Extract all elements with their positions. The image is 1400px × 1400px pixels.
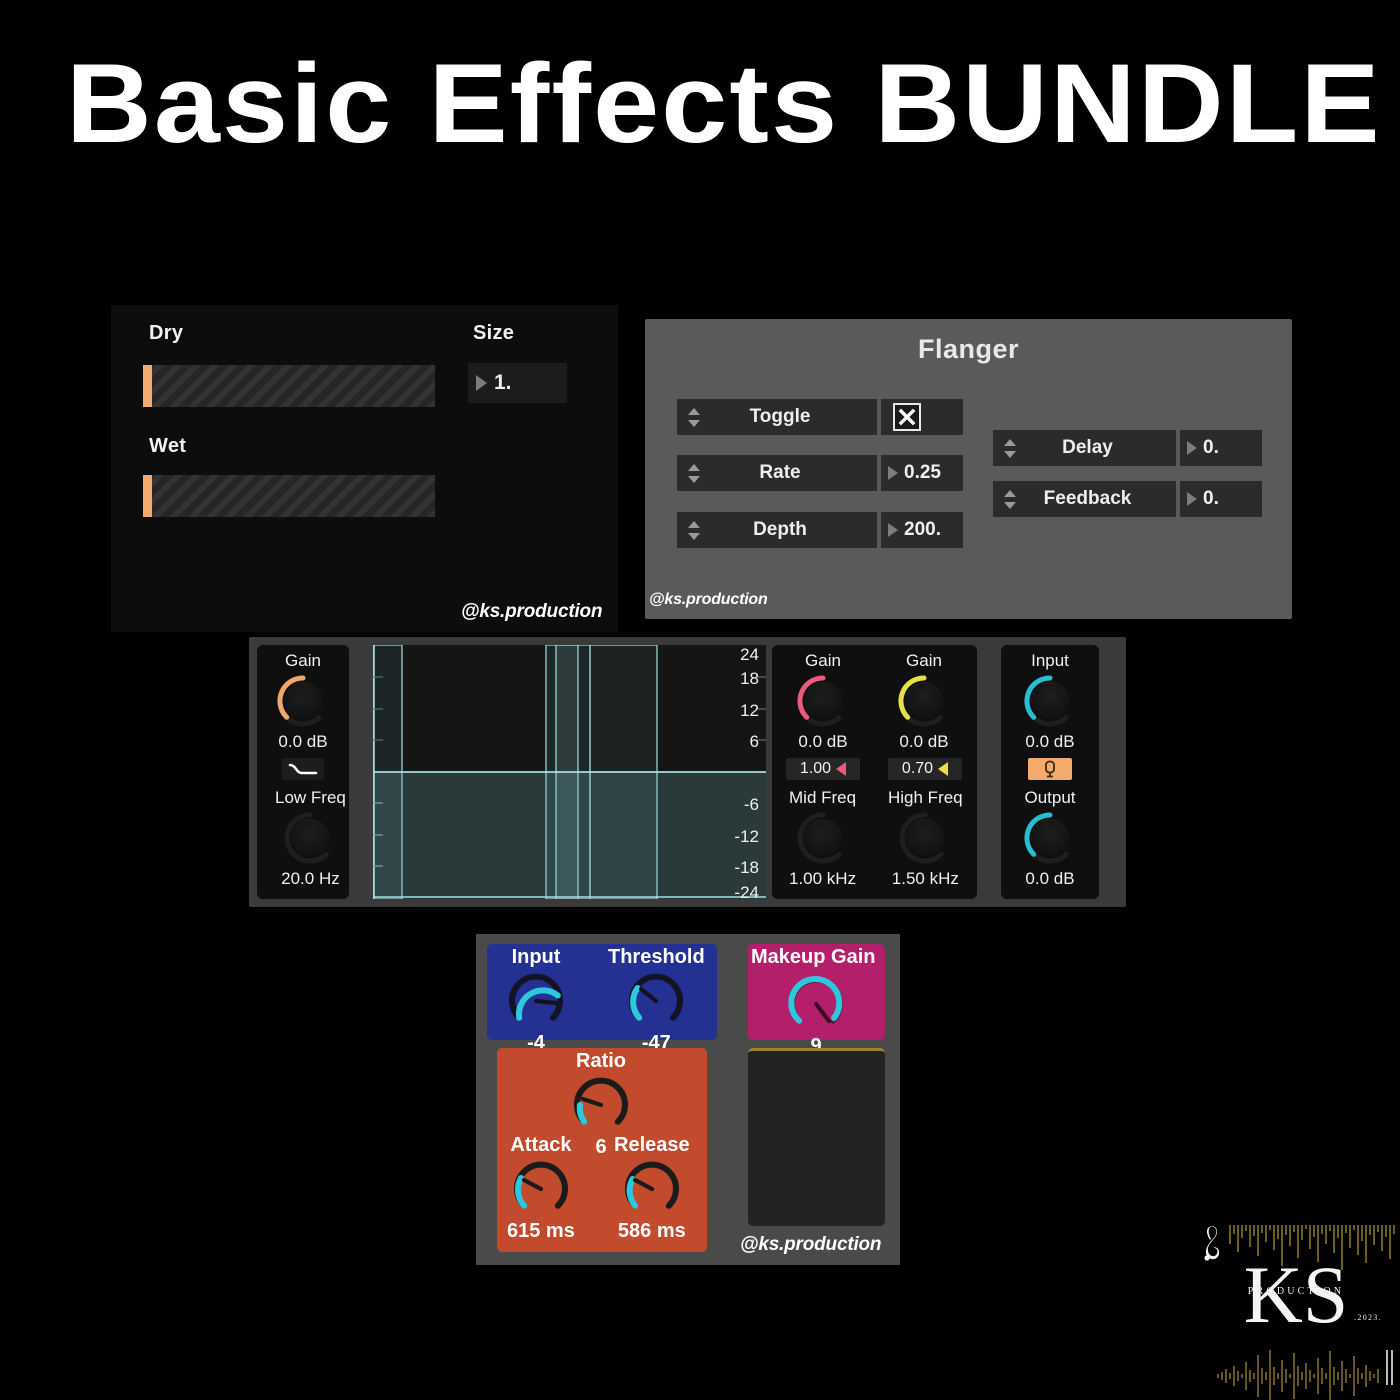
equalizer-panel: Gain 0.0 dB Low Freq <box>249 637 1126 907</box>
spinner-up-icon[interactable] <box>688 521 700 528</box>
flanger-row-depth[interactable]: Depth <box>677 512 877 548</box>
eq-tick-12: 12 <box>725 701 759 721</box>
high-q-value: 0.70 <box>902 760 933 778</box>
toggle-name-box[interactable]: Toggle <box>677 399 877 435</box>
compressor-input-section: Input -4 Threshold -47 <box>487 944 717 1040</box>
dry-slider[interactable] <box>143 365 435 407</box>
watermark-compressor: @ks.production <box>740 1234 881 1256</box>
comp-attack-label: Attack <box>510 1134 571 1157</box>
delay-spinner[interactable] <box>999 439 1021 458</box>
mid-gain-knob-group[interactable]: Gain 0.0 dB <box>795 651 851 752</box>
eq-tick-6: 6 <box>725 732 759 752</box>
gain-reduction-meter <box>748 1048 885 1226</box>
flanger-title: Flanger <box>645 334 1292 365</box>
size-value: 1. <box>494 371 512 395</box>
compressor-makeup-section: Makeup Gain 9 <box>748 944 885 1040</box>
wet-slider-handle[interactable] <box>143 475 152 517</box>
spinner-up-icon[interactable] <box>688 408 700 415</box>
low-freq-knob-group[interactable]: Low Freq 20.0 Hz <box>275 788 346 889</box>
io-input-knob-group[interactable]: Input 0.0 dB <box>1022 651 1078 752</box>
size-label: Size <box>473 322 514 345</box>
eq-tick-n18: -18 <box>725 858 759 878</box>
rate-value: 0.25 <box>904 462 941 484</box>
comp-threshold-knob[interactable] <box>625 970 687 1032</box>
io-input-label: Input <box>1031 651 1069 671</box>
high-q-field[interactable]: 0.70 <box>888 758 962 780</box>
spinner-down-icon[interactable] <box>1004 451 1016 458</box>
low-gain-label: Gain <box>285 651 321 671</box>
comp-input-knob-group[interactable]: Input -4 <box>505 946 567 1055</box>
mid-gain-label: Gain <box>805 651 841 671</box>
rate-label: Rate <box>705 462 877 484</box>
comp-makeup-knob-group[interactable]: Makeup Gain 9 <box>785 946 847 1058</box>
triangle-right-icon <box>1187 441 1197 455</box>
mid-gain-value: 0.0 dB <box>798 732 847 752</box>
io-output-knob-body <box>1031 819 1069 857</box>
watermark-reverb: @ks.production <box>461 601 602 623</box>
low-freq-value: 20.0 Hz <box>281 869 340 889</box>
tube-toggle-button[interactable] <box>1028 758 1072 780</box>
eq-io-card: Input 0.0 dB Output <box>1001 645 1099 899</box>
wet-slider[interactable] <box>143 475 435 517</box>
toggle-spinner[interactable] <box>683 408 705 427</box>
feedback-name-box[interactable]: Feedback <box>993 481 1176 517</box>
high-freq-label: High Freq <box>888 788 963 808</box>
triangle-right-icon <box>476 375 487 391</box>
eq-tick-n6: -6 <box>725 795 759 815</box>
spinner-up-icon[interactable] <box>1004 439 1016 446</box>
spinner-down-icon[interactable] <box>688 533 700 540</box>
comp-input-label: Input <box>512 946 561 969</box>
mid-freq-knob[interactable] <box>795 810 851 866</box>
high-gain-knob-group[interactable]: Gain 0.0 dB <box>896 651 952 752</box>
watermark-flanger: @ks.production <box>649 591 768 609</box>
rate-value-field[interactable]: 0.25 <box>881 455 963 491</box>
page-title: Basic Effects BUNDLE <box>66 46 1400 162</box>
rate-name-box[interactable]: Rate <box>677 455 877 491</box>
spinner-down-icon[interactable] <box>688 420 700 427</box>
comp-threshold-label: Threshold <box>608 946 705 969</box>
high-freq-value: 1.50 kHz <box>892 869 959 889</box>
reverb-panel: Dry Wet Size 1. @ks.production <box>111 305 618 632</box>
eq-tick-24: 24 <box>725 645 759 665</box>
io-input-knob-body <box>1031 682 1069 720</box>
toggle-checkbox-box[interactable] <box>881 399 963 435</box>
eq-tick-n24: -24 <box>725 883 759 899</box>
compressor-dynamics-section: Ratio 6 Attack 615 ms Re <box>497 1048 707 1252</box>
high-gain-label: Gain <box>906 651 942 671</box>
mid-freq-knob-body <box>804 819 842 857</box>
mid-band-arrow-icon <box>836 762 846 776</box>
mid-q-value: 1.00 <box>800 760 831 778</box>
depth-value: 200. <box>904 519 941 541</box>
dry-label: Dry <box>149 322 183 345</box>
delay-name-box[interactable]: Delay <box>993 430 1176 466</box>
spinner-down-icon[interactable] <box>1004 502 1016 509</box>
logo-artwork: KS PRODUCTION .2023. <box>1196 1222 1400 1400</box>
eq-response-graph[interactable]: 24 18 12 6 -6 -12 -18 -24 <box>373 645 766 899</box>
feedback-label: Feedback <box>1021 488 1176 510</box>
comp-ratio-knob[interactable] <box>570 1074 632 1136</box>
high-gain-knob-body <box>905 682 943 720</box>
io-output-knob[interactable] <box>1022 810 1078 866</box>
triangle-right-icon <box>1187 492 1197 506</box>
dry-slider-handle[interactable] <box>143 365 152 407</box>
wet-label: Wet <box>149 435 186 458</box>
compressor-panel: Input -4 Threshold -47 <box>476 934 900 1265</box>
comp-makeup-label: Makeup Gain <box>751 946 875 969</box>
eq-curve <box>373 645 766 899</box>
triangle-right-icon <box>888 523 898 537</box>
depth-name-box[interactable]: Depth <box>677 512 877 548</box>
mid-gain-knob[interactable] <box>795 673 851 729</box>
spinner-down-icon[interactable] <box>688 476 700 483</box>
triangle-right-icon <box>888 466 898 480</box>
high-freq-knob[interactable] <box>897 810 953 866</box>
comp-release-knob[interactable] <box>621 1158 683 1220</box>
io-output-value: 0.0 dB <box>1025 869 1074 889</box>
spinner-up-icon[interactable] <box>1004 490 1016 497</box>
check-x-icon <box>898 408 916 426</box>
tube-icon <box>1043 760 1057 778</box>
low-shelf-filter-button[interactable] <box>282 758 324 780</box>
toggle-checkbox[interactable] <box>893 403 921 431</box>
flanger-row-rate[interactable]: Rate <box>677 455 877 491</box>
flanger-row-feedback[interactable]: Feedback <box>993 481 1176 517</box>
delay-label: Delay <box>1021 437 1176 459</box>
low-shelf-icon <box>288 762 318 777</box>
mid-freq-value: 1.00 kHz <box>789 869 856 889</box>
size-number-field[interactable]: 1. <box>468 363 567 403</box>
high-freq-knob-group[interactable]: High Freq 1.50 kHz <box>888 788 963 889</box>
flanger-panel: Flanger Toggle Rate 0.25 <box>645 319 1292 619</box>
high-band-arrow-icon <box>938 762 948 776</box>
low-gain-knob-group[interactable]: Gain 0.0 dB <box>275 651 331 752</box>
low-gain-knob-body <box>284 682 322 720</box>
high-gain-value: 0.0 dB <box>899 732 948 752</box>
mid-freq-label: Mid Freq <box>789 788 856 808</box>
delay-value-field[interactable]: 0. <box>1180 430 1262 466</box>
comp-input-knob[interactable] <box>505 970 567 1032</box>
depth-label: Depth <box>705 519 877 541</box>
ks-production-logo: KS PRODUCTION .2023. <box>1196 1222 1400 1400</box>
comp-threshold-knob-group[interactable]: Threshold -47 <box>608 946 705 1055</box>
comp-attack-knob[interactable] <box>510 1158 572 1220</box>
io-output-label: Output <box>1024 788 1075 808</box>
io-input-knob[interactable] <box>1022 673 1078 729</box>
flanger-row-delay[interactable]: Delay <box>993 430 1176 466</box>
high-gain-knob[interactable] <box>896 673 952 729</box>
comp-attack-value: 615 ms <box>507 1220 575 1243</box>
feedback-value-field[interactable]: 0. <box>1180 481 1262 517</box>
comp-release-label: Release <box>614 1134 690 1157</box>
logo-year: .2023. <box>1354 1313 1382 1322</box>
comp-ratio-value: 6 <box>595 1136 606 1159</box>
eq-mid-high-card: Gain 0.0 dB 1.00 Mid Freq 1.00 k <box>772 645 977 899</box>
spinner-up-icon[interactable] <box>688 464 700 471</box>
mid-freq-knob-group[interactable]: Mid Freq 1.00 kHz <box>789 788 856 889</box>
feedback-value: 0. <box>1203 488 1219 510</box>
mid-q-field[interactable]: 1.00 <box>786 758 860 780</box>
feedback-spinner[interactable] <box>999 490 1021 509</box>
mid-gain-knob-body <box>804 682 842 720</box>
depth-spinner[interactable] <box>683 521 705 540</box>
delay-value: 0. <box>1203 437 1219 459</box>
flanger-row-toggle[interactable]: Toggle <box>677 399 877 435</box>
comp-ratio-label: Ratio <box>576 1050 626 1073</box>
comp-makeup-knob[interactable] <box>785 973 847 1035</box>
io-input-value: 0.0 dB <box>1025 732 1074 752</box>
eq-tick-18: 18 <box>725 669 759 689</box>
io-output-knob-group[interactable]: Output 0.0 dB <box>1022 788 1078 889</box>
toggle-label: Toggle <box>705 406 877 428</box>
rate-spinner[interactable] <box>683 464 705 483</box>
low-freq-label: Low Freq <box>275 788 346 808</box>
comp-release-knob-group[interactable]: Release 586 ms <box>614 1134 690 1243</box>
eq-tick-n12: -12 <box>725 827 759 847</box>
eq-low-band-card: Gain 0.0 dB Low Freq <box>257 645 349 899</box>
low-freq-knob[interactable] <box>282 810 338 866</box>
low-gain-value: 0.0 dB <box>278 732 327 752</box>
low-gain-knob[interactable] <box>275 673 331 729</box>
logo-subtitle: PRODUCTION <box>1248 1286 1344 1297</box>
comp-attack-knob-group[interactable]: Attack 615 ms <box>507 1134 575 1243</box>
depth-value-field[interactable]: 200. <box>881 512 963 548</box>
comp-release-value: 586 ms <box>618 1220 686 1243</box>
